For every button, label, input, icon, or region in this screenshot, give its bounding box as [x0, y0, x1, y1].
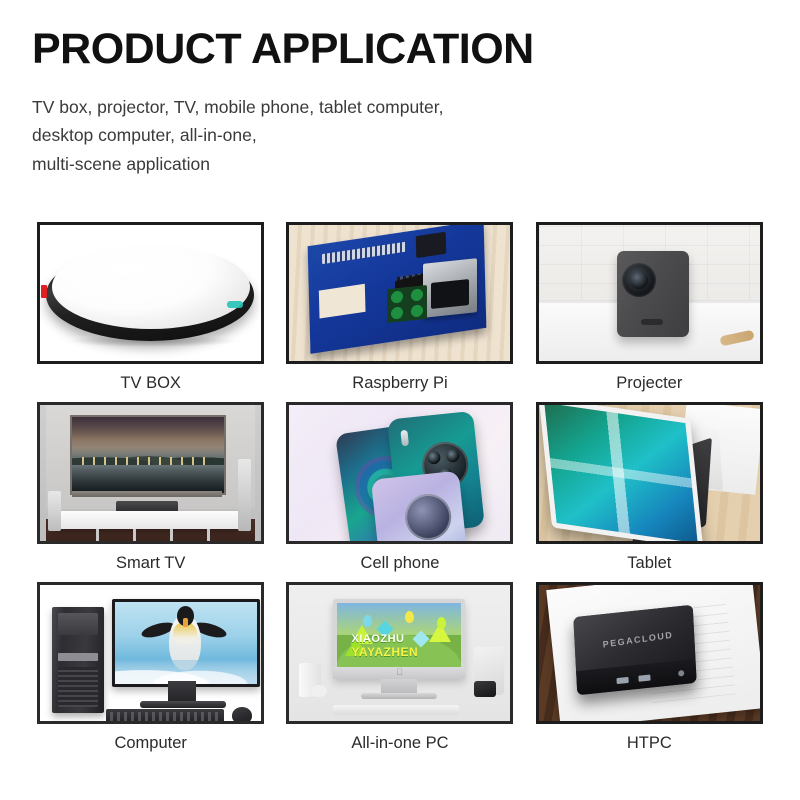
product-tile-tablet[interactable]: Tablet	[532, 402, 767, 582]
all-in-one-image-frame: XIAOZHU YAYAZHEN 	[286, 582, 513, 724]
product-caption: HTPC	[627, 735, 672, 752]
apple-logo-icon: 	[396, 667, 403, 677]
subtitle-line-3: multi-scene application	[32, 150, 772, 178]
page-title: PRODUCT APPLICATION	[32, 28, 772, 71]
mini-pc-body: PEGACLOUD	[573, 605, 696, 696]
tv-box-photo	[40, 225, 261, 361]
tower-vent	[58, 667, 98, 707]
phone-purple-back	[371, 471, 467, 541]
monitor-base	[140, 701, 226, 708]
htpc-photo: PEGACLOUD	[539, 585, 760, 721]
tv-box-red-indicator	[41, 285, 47, 298]
product-tile-tv-box[interactable]: TV BOX	[33, 222, 268, 402]
all-in-one-photo: XIAOZHU YAYAZHEN 	[289, 585, 510, 721]
projector-body	[617, 251, 689, 337]
penguin-beak	[183, 618, 188, 627]
camera-module	[403, 492, 454, 541]
product-tile-projector[interactable]: Projecter	[532, 222, 767, 402]
green-terminal-blocks	[387, 285, 427, 323]
product-caption: Raspberry Pi	[352, 375, 447, 392]
screen-balloon	[405, 611, 414, 623]
tv-bottom-bar	[72, 491, 222, 497]
tablet-photo	[539, 405, 760, 541]
projector-photo	[539, 225, 760, 361]
screen-text-line-1: XIAOZHU	[351, 633, 404, 645]
monitor-wallpaper	[115, 602, 257, 684]
camera-lens	[446, 449, 460, 463]
left-speaker	[48, 491, 61, 531]
keyboard	[333, 705, 459, 715]
header: PRODUCT APPLICATION TV box, projector, T…	[32, 28, 772, 178]
smart-tv-photo	[40, 405, 261, 541]
monitor-base	[361, 693, 437, 699]
tablet-image-frame	[536, 402, 763, 544]
cell-phone-photo	[289, 405, 510, 541]
media-console	[54, 511, 240, 529]
tablet-screen	[539, 405, 703, 541]
ethernet-jack	[423, 258, 477, 318]
all-in-one-monitor: XIAOZHU YAYAZHEN 	[333, 599, 465, 679]
screen-wallpaper	[544, 405, 698, 541]
product-tile-computer[interactable]: Computer	[33, 582, 268, 762]
brand-label: PEGACLOUD	[602, 630, 673, 650]
monitor-stand	[168, 681, 196, 703]
tv-box-image-frame	[37, 222, 264, 364]
htpc-image-frame: PEGACLOUD	[536, 582, 763, 724]
projector-vent	[641, 319, 663, 325]
usb-port	[638, 675, 650, 682]
pin-header	[322, 242, 406, 264]
product-caption: All-in-one PC	[351, 735, 448, 752]
smart-tv-image-frame	[37, 402, 264, 544]
product-caption: Smart TV	[116, 555, 185, 572]
power-button	[678, 670, 684, 677]
subtitle-line-2: desktop computer, all-in-one,	[32, 121, 772, 149]
product-tile-all-in-one-pc[interactable]: XIAOZHU YAYAZHEN  All-in-one PC	[282, 582, 517, 762]
product-caption: Computer	[114, 735, 186, 752]
product-tile-raspberry-pi[interactable]: Raspberry Pi	[282, 222, 517, 402]
product-caption: Projecter	[616, 375, 682, 392]
tv-box-teal-indicator	[227, 301, 243, 308]
cell-phone-image-frame	[286, 402, 513, 544]
camera-lens	[427, 450, 441, 464]
camera-flash	[401, 430, 410, 447]
screen-text-line-2: YAYAZHEN	[351, 645, 418, 659]
raspberry-pi-photo	[289, 225, 510, 361]
projector-lens	[622, 263, 656, 297]
product-tile-smart-tv[interactable]: Smart TV	[33, 402, 268, 582]
product-tile-htpc[interactable]: PEGACLOUD HTPC	[532, 582, 767, 762]
screen-water	[72, 465, 224, 493]
product-caption: Cell phone	[361, 555, 440, 572]
product-application-page: PRODUCT APPLICATION TV box, projector, T…	[0, 0, 800, 800]
screen-city-lights	[82, 457, 214, 465]
product-caption: Tablet	[627, 555, 671, 572]
subtitle-line-1: TV box, projector, TV, mobile phone, tab…	[32, 93, 772, 121]
desk-camera	[474, 681, 496, 697]
computer-image-frame	[37, 582, 264, 724]
right-speaker	[238, 459, 251, 531]
page-subtitle: TV box, projector, TV, mobile phone, tab…	[32, 93, 772, 178]
projector-image-frame	[536, 222, 763, 364]
monitor-chin: 	[333, 667, 465, 679]
product-grid: TV BOX Raspberry Pi	[33, 222, 767, 762]
tv-screen	[70, 415, 226, 495]
monitor	[112, 599, 260, 687]
soc-chip	[416, 232, 447, 258]
tv-box-top-surface	[52, 245, 250, 329]
product-tile-cell-phone[interactable]: Cell phone	[282, 402, 517, 582]
product-caption: TV BOX	[120, 375, 181, 392]
monitor-screen: XIAOZHU YAYAZHEN	[337, 603, 461, 667]
mouse	[232, 707, 252, 721]
raspberry-pi-image-frame	[286, 222, 513, 364]
usb-port	[616, 677, 628, 684]
desktop-tower	[52, 607, 104, 713]
keyboard	[106, 709, 224, 721]
console-legs	[62, 529, 234, 541]
computer-photo	[40, 585, 261, 721]
